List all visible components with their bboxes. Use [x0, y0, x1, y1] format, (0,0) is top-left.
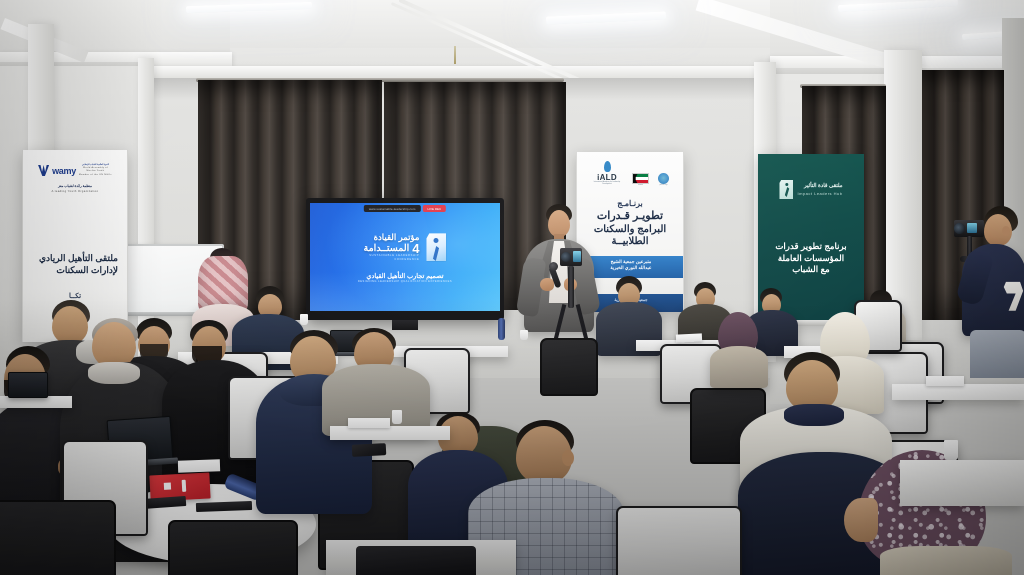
cameraman-jeans: [970, 330, 1024, 378]
wamy-mark-icon: [38, 165, 49, 176]
paper-cup-right: [944, 440, 958, 460]
chair-bottom-left[interactable]: [0, 500, 116, 575]
slide-edition-number: 4: [412, 243, 419, 255]
red-notebook-logo-icon: [164, 482, 171, 489]
partner-logo-icon: [658, 173, 669, 184]
wamy-logo-en-3: Member of the UN NGOs: [79, 174, 112, 177]
presentation-screen[interactable]: www.sustainable-leadership.com LIVE REC …: [310, 203, 500, 311]
iald-logo-sub: International Academy for Leadership Dev…: [591, 182, 623, 186]
laptop-left-back[interactable]: [8, 372, 48, 398]
iald-mark-icon: [604, 161, 611, 172]
wamy-headline-line1: ملتقى التأهيل الريادي: [30, 253, 118, 264]
tripod-camera-lens-icon: [561, 252, 571, 262]
patterned-hijab-shoulder: [880, 546, 1012, 575]
slide-title-group: مؤتمر القيادة 4 المستــدامة SUSTAINABLE …: [310, 233, 500, 261]
chair-mid-3[interactable]: [540, 338, 598, 396]
right-foreground-table: [900, 460, 1024, 506]
white-sweater-collar: [784, 404, 844, 426]
phone-center-foreground[interactable]: [352, 443, 387, 457]
papers-center-foreground: [348, 418, 390, 428]
papers-rear-right: [676, 333, 702, 342]
slide-title-ar-line2: المستــدامة: [364, 244, 410, 254]
cup-center-foreground: [392, 410, 402, 424]
slide-subtitle-en: DESIGNING LEADERSHIP QUALIFICATION EXPER…: [310, 280, 500, 283]
screen-record-chip: LIVE REC: [423, 205, 447, 212]
chair-bottom-right[interactable]: [616, 506, 742, 575]
kuwait-flag-icon: [632, 173, 649, 184]
tripod-leg-right: [576, 304, 589, 340]
right-back-table: [892, 384, 1024, 400]
conference-room-photo: www.sustainable-leadership.com LIVE REC …: [0, 0, 1024, 575]
ceiling-conduit-drop: [454, 46, 456, 64]
paper-cup-rear-center: [520, 330, 528, 340]
ilh-headline-line3: مع الشباب: [766, 264, 856, 276]
patterned-hijab-face: [844, 498, 878, 542]
slide-title-row2: 4 المستــدامة: [364, 243, 420, 255]
slide-subtitle-ar: تصميم تجارب التأهيل القيادي: [310, 272, 500, 280]
cameraman: [948, 198, 1024, 378]
audience-member-gray-sweater: [322, 328, 430, 424]
ilh-logo-en: Impact Leaders Hub: [797, 191, 842, 196]
center-foreground-table: [330, 426, 450, 440]
wamy-logo: wamy الندوة العالمية للشباب الإسلامي Wor…: [30, 164, 120, 177]
video-camera-tripod: [556, 248, 590, 340]
cameraman-camera-lens-icon: [954, 223, 965, 234]
speaker-head: [548, 210, 570, 237]
tripod-column: [568, 266, 574, 308]
wamy-wordmark: wamy: [52, 166, 76, 176]
water-bottle-rear: [498, 318, 505, 340]
checked-blazer-ear: [562, 450, 574, 466]
kuwait-flag-label: Kuwait: [632, 185, 649, 186]
bag-bottom-center: [356, 546, 476, 575]
red-notebook-mark-icon: [182, 480, 187, 492]
flc-collar: [88, 362, 140, 384]
slide-subtitle-group: تصميم تجارب التأهيل القيادي DESIGNING LE…: [310, 272, 500, 283]
cameraman-camera-lcd: [967, 223, 977, 233]
papers-front-left: [178, 459, 220, 472]
slide-title-en-line2: CONFERENCE: [364, 258, 420, 262]
iald-wordmark: iALD: [591, 173, 623, 182]
third-logo-label: partner-logo: [658, 185, 669, 186]
screen-url-chip: www.sustainable-leadership.com: [364, 205, 421, 212]
presentation-screen-frame[interactable]: www.sustainable-leadership.com LIVE REC …: [306, 198, 504, 320]
conference-logo-icon: [426, 233, 446, 261]
papers-right-table: [926, 376, 964, 386]
tripod-leg-left: [554, 304, 567, 340]
screen-browser-bar: www.sustainable-leadership.com LIVE REC: [364, 205, 446, 212]
impact-leaders-hub-logo: ملتقى قادة التأثير Impact Leaders Hub: [766, 180, 856, 199]
impact-leaders-hub-mark-icon: [779, 180, 793, 199]
cameraman-ear: [1002, 226, 1010, 236]
ilh-logo-ar: ملتقى قادة التأثير: [797, 183, 842, 190]
wamy-headline-line2: لإدارات السكنات: [30, 265, 118, 276]
ilh-headline-line2: المؤسسات العاملة: [766, 253, 856, 265]
chair-bottom-center[interactable]: [168, 520, 298, 575]
iald-logo-row: iALD International Academy for Leadershi…: [583, 161, 677, 186]
wamy-tagline-en: A leading Youth Organization: [30, 189, 120, 193]
ilh-headline-line1: برنامج تطوير قدرات: [766, 241, 856, 253]
paper-cup-rear-left: [300, 314, 308, 325]
slide-text-block: مؤتمر القيادة 4 المستــدامة SUSTAINABLE …: [364, 233, 420, 261]
tripod-camera-lcd: [573, 251, 581, 262]
wamy-footer: تكــا: [30, 292, 120, 300]
